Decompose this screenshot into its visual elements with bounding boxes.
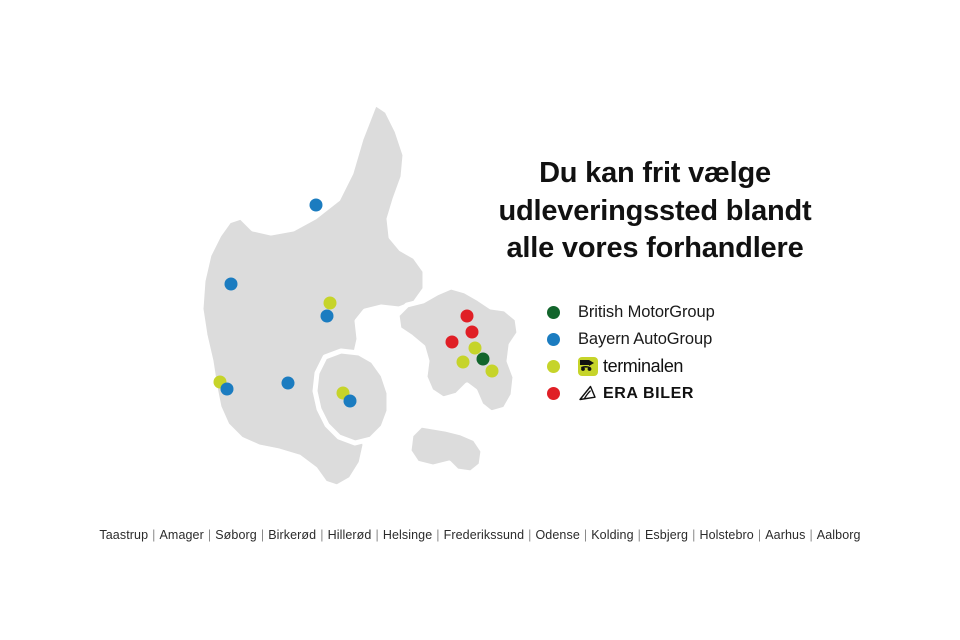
- city-kolding: Kolding: [591, 528, 633, 542]
- city-separator: |: [634, 528, 645, 542]
- city-list: Taastrup|Amager|Søborg|Birkerød|Hillerød…: [0, 528, 960, 542]
- headline-line-3: alle vores forhandlere: [455, 230, 855, 268]
- city-frederikssund: Frederikssund: [444, 528, 525, 542]
- city-separator: |: [257, 528, 268, 542]
- city-esbjerg: Esbjerg: [645, 528, 688, 542]
- city-helsinge: Helsinge: [383, 528, 432, 542]
- map-region-lolland: [409, 425, 483, 473]
- terminalen-mark-icon: [578, 357, 598, 376]
- legend-item-british-motorgroup: British MotorGroup: [547, 300, 847, 325]
- legend-swatch-yellow: [547, 360, 560, 373]
- map-region-zealand: [397, 287, 519, 413]
- legend-item-era-biler: ERA BILER: [547, 381, 847, 406]
- dealer-legend: British MotorGroup Bayern AutoGroup te: [547, 300, 847, 408]
- headline-line-2: udleveringssted blandt: [455, 193, 855, 231]
- promo-graphic: Du kan frit vælge udleveringssted blandt…: [0, 0, 960, 640]
- legend-swatch-blue: [547, 333, 560, 346]
- map-marker: [457, 356, 470, 369]
- map-marker: [486, 365, 499, 378]
- city-separator: |: [316, 528, 327, 542]
- city-separator: |: [754, 528, 765, 542]
- city-hillerod: Hillerød: [328, 528, 372, 542]
- city-separator: |: [688, 528, 699, 542]
- terminalen-logo: terminalen: [578, 356, 683, 377]
- city-taastrup: Taastrup: [99, 528, 148, 542]
- terminalen-car-icon: [578, 357, 598, 376]
- headline: Du kan frit vælge udleveringssted blandt…: [455, 155, 855, 268]
- map-marker: [221, 383, 234, 396]
- city-separator: |: [371, 528, 382, 542]
- city-soborg: Søborg: [215, 528, 257, 542]
- map-region-jutland: [201, 103, 425, 487]
- era-biler-wordmark: ERA BILER: [603, 385, 694, 403]
- city-aalborg: Aalborg: [817, 528, 861, 542]
- legend-swatch-green: [547, 306, 560, 319]
- city-separator: |: [432, 528, 443, 542]
- city-separator: |: [580, 528, 591, 542]
- map-marker: [310, 199, 323, 212]
- legend-label-bayern-autogroup: Bayern AutoGroup: [578, 330, 712, 349]
- city-separator: |: [524, 528, 535, 542]
- era-biler-mark-icon: [578, 385, 598, 402]
- map-marker: [225, 278, 238, 291]
- map-marker: [477, 353, 490, 366]
- map-marker: [282, 377, 295, 390]
- headline-line-1: Du kan frit vælge: [455, 155, 855, 193]
- legend-label-british-motorgroup: British MotorGroup: [578, 303, 715, 322]
- city-separator: |: [204, 528, 215, 542]
- map-marker: [446, 336, 459, 349]
- map-marker: [344, 395, 357, 408]
- legend-item-bayern-autogroup: Bayern AutoGroup: [547, 327, 847, 352]
- map-marker: [324, 297, 337, 310]
- map-marker: [466, 326, 479, 339]
- city-separator: |: [805, 528, 816, 542]
- city-holstebro: Holstebro: [699, 528, 753, 542]
- city-aarhus: Aarhus: [765, 528, 805, 542]
- city-birkerod: Birkerød: [268, 528, 316, 542]
- city-odense: Odense: [535, 528, 579, 542]
- terminalen-wordmark: terminalen: [603, 356, 683, 377]
- map-marker: [321, 310, 334, 323]
- legend-item-terminalen: terminalen: [547, 354, 847, 379]
- city-separator: |: [148, 528, 159, 542]
- city-amager: Amager: [160, 528, 204, 542]
- era-biler-logo: ERA BILER: [578, 385, 694, 403]
- legend-swatch-red: [547, 387, 560, 400]
- map-marker: [461, 310, 474, 323]
